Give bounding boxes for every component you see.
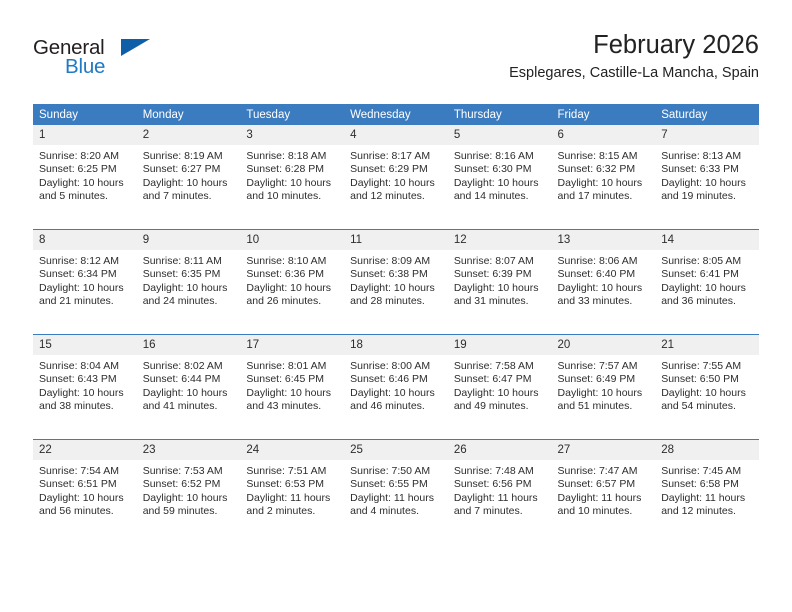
daylight-duration-line1: Daylight: 10 hours — [661, 387, 753, 400]
sunset-time: Sunset: 6:36 PM — [246, 268, 338, 281]
day-details: Sunrise: 8:10 AMSunset: 6:36 PMDaylight:… — [240, 250, 344, 309]
calendar-day-cell[interactable]: 27Sunrise: 7:47 AMSunset: 6:57 PMDayligh… — [552, 440, 656, 545]
calendar-day-cell[interactable]: 15Sunrise: 8:04 AMSunset: 6:43 PMDayligh… — [33, 335, 137, 440]
day-details: Sunrise: 8:04 AMSunset: 6:43 PMDaylight:… — [33, 355, 137, 414]
daylight-duration-line1: Daylight: 10 hours — [454, 282, 546, 295]
day-details: Sunrise: 7:50 AMSunset: 6:55 PMDaylight:… — [344, 460, 448, 519]
sunset-time: Sunset: 6:53 PM — [246, 478, 338, 491]
daylight-duration-line2: and 36 minutes. — [661, 295, 753, 308]
daylight-duration-line1: Daylight: 10 hours — [143, 492, 235, 505]
sunset-time: Sunset: 6:29 PM — [350, 163, 442, 176]
calendar-day-cell[interactable]: 8Sunrise: 8:12 AMSunset: 6:34 PMDaylight… — [33, 230, 137, 335]
daylight-duration-line2: and 24 minutes. — [143, 295, 235, 308]
sunrise-time: Sunrise: 8:09 AM — [350, 255, 442, 268]
daylight-duration-line2: and 43 minutes. — [246, 400, 338, 413]
day-number: 19 — [448, 335, 552, 355]
daylight-duration-line2: and 7 minutes. — [143, 190, 235, 203]
daylight-duration-line1: Daylight: 10 hours — [558, 177, 650, 190]
daylight-duration-line2: and 14 minutes. — [454, 190, 546, 203]
daylight-duration-line1: Daylight: 10 hours — [558, 387, 650, 400]
day-details: Sunrise: 8:12 AMSunset: 6:34 PMDaylight:… — [33, 250, 137, 309]
daylight-duration-line2: and 59 minutes. — [143, 505, 235, 518]
sunset-time: Sunset: 6:40 PM — [558, 268, 650, 281]
calendar-day-cell[interactable]: 13Sunrise: 8:06 AMSunset: 6:40 PMDayligh… — [552, 230, 656, 335]
day-number: 15 — [33, 335, 137, 355]
sunrise-time: Sunrise: 8:05 AM — [661, 255, 753, 268]
sunrise-time: Sunrise: 8:00 AM — [350, 360, 442, 373]
calendar-day-cell[interactable]: 24Sunrise: 7:51 AMSunset: 6:53 PMDayligh… — [240, 440, 344, 545]
daylight-duration-line2: and 51 minutes. — [558, 400, 650, 413]
sunrise-time: Sunrise: 7:54 AM — [39, 465, 131, 478]
daylight-duration-line1: Daylight: 11 hours — [454, 492, 546, 505]
calendar-day-cell[interactable]: 20Sunrise: 7:57 AMSunset: 6:49 PMDayligh… — [552, 335, 656, 440]
daylight-duration-line2: and 10 minutes. — [558, 505, 650, 518]
calendar-day-cell[interactable]: 1Sunrise: 8:20 AMSunset: 6:25 PMDaylight… — [33, 125, 137, 230]
day-details: Sunrise: 8:13 AMSunset: 6:33 PMDaylight:… — [655, 145, 759, 204]
day-number: 8 — [33, 230, 137, 250]
sunset-time: Sunset: 6:43 PM — [39, 373, 131, 386]
daylight-duration-line2: and 4 minutes. — [350, 505, 442, 518]
day-details: Sunrise: 7:45 AMSunset: 6:58 PMDaylight:… — [655, 460, 759, 519]
day-number: 27 — [552, 440, 656, 460]
sunrise-time: Sunrise: 8:17 AM — [350, 150, 442, 163]
sunset-time: Sunset: 6:32 PM — [558, 163, 650, 176]
day-number: 18 — [344, 335, 448, 355]
calendar-day-cell[interactable]: 16Sunrise: 8:02 AMSunset: 6:44 PMDayligh… — [137, 335, 241, 440]
sunset-time: Sunset: 6:58 PM — [661, 478, 753, 491]
daylight-duration-line1: Daylight: 10 hours — [143, 282, 235, 295]
daylight-duration-line1: Daylight: 10 hours — [350, 177, 442, 190]
page-header: General Blue February 2026 Esplegares, C… — [33, 30, 759, 98]
sunset-time: Sunset: 6:44 PM — [143, 373, 235, 386]
day-details: Sunrise: 8:16 AMSunset: 6:30 PMDaylight:… — [448, 145, 552, 204]
page-subtitle: Esplegares, Castille-La Mancha, Spain — [279, 63, 759, 83]
day-details: Sunrise: 7:47 AMSunset: 6:57 PMDaylight:… — [552, 460, 656, 519]
day-details: Sunrise: 7:58 AMSunset: 6:47 PMDaylight:… — [448, 355, 552, 414]
day-number: 6 — [552, 125, 656, 145]
day-number: 4 — [344, 125, 448, 145]
calendar-day-cell[interactable]: 19Sunrise: 7:58 AMSunset: 6:47 PMDayligh… — [448, 335, 552, 440]
sunrise-time: Sunrise: 7:58 AM — [454, 360, 546, 373]
sunrise-time: Sunrise: 7:53 AM — [143, 465, 235, 478]
daylight-duration-line2: and 41 minutes. — [143, 400, 235, 413]
daylight-duration-line2: and 54 minutes. — [661, 400, 753, 413]
day-number: 3 — [240, 125, 344, 145]
day-number: 5 — [448, 125, 552, 145]
sunrise-time: Sunrise: 8:01 AM — [246, 360, 338, 373]
sunrise-time: Sunrise: 8:07 AM — [454, 255, 546, 268]
sunset-time: Sunset: 6:38 PM — [350, 268, 442, 281]
sunrise-time: Sunrise: 8:10 AM — [246, 255, 338, 268]
daylight-duration-line1: Daylight: 10 hours — [39, 492, 131, 505]
sunrise-time: Sunrise: 8:13 AM — [661, 150, 753, 163]
daylight-duration-line2: and 56 minutes. — [39, 505, 131, 518]
daylight-duration-line1: Daylight: 10 hours — [454, 177, 546, 190]
sunrise-time: Sunrise: 8:18 AM — [246, 150, 338, 163]
sunrise-time: Sunrise: 7:57 AM — [558, 360, 650, 373]
daylight-duration-line1: Daylight: 10 hours — [350, 282, 442, 295]
calendar-day-cell[interactable]: 4Sunrise: 8:17 AMSunset: 6:29 PMDaylight… — [344, 125, 448, 230]
day-number: 17 — [240, 335, 344, 355]
day-details: Sunrise: 8:05 AMSunset: 6:41 PMDaylight:… — [655, 250, 759, 309]
daylight-duration-line1: Daylight: 10 hours — [39, 387, 131, 400]
brand-logo[interactable]: General Blue — [33, 36, 263, 92]
weekday-header-saturday: Saturday — [655, 104, 759, 125]
daylight-duration-line2: and 12 minutes. — [350, 190, 442, 203]
day-number: 1 — [33, 125, 137, 145]
calendar-day-cell[interactable]: 18Sunrise: 8:00 AMSunset: 6:46 PMDayligh… — [344, 335, 448, 440]
day-details: Sunrise: 8:19 AMSunset: 6:27 PMDaylight:… — [137, 145, 241, 204]
calendar-day-cell[interactable]: 21Sunrise: 7:55 AMSunset: 6:50 PMDayligh… — [655, 335, 759, 440]
daylight-duration-line2: and 10 minutes. — [246, 190, 338, 203]
daylight-duration-line1: Daylight: 10 hours — [661, 282, 753, 295]
calendar-page: General Blue February 2026 Esplegares, C… — [0, 0, 792, 612]
calendar-day-cell[interactable]: 28Sunrise: 7:45 AMSunset: 6:58 PMDayligh… — [655, 440, 759, 545]
daylight-duration-line1: Daylight: 10 hours — [246, 282, 338, 295]
weekday-header-monday: Monday — [137, 104, 241, 125]
sunset-time: Sunset: 6:57 PM — [558, 478, 650, 491]
sunset-time: Sunset: 6:30 PM — [454, 163, 546, 176]
sunset-time: Sunset: 6:55 PM — [350, 478, 442, 491]
sunset-time: Sunset: 6:33 PM — [661, 163, 753, 176]
calendar-day-cell[interactable]: 5Sunrise: 8:16 AMSunset: 6:30 PMDaylight… — [448, 125, 552, 230]
day-number: 11 — [344, 230, 448, 250]
daylight-duration-line2: and 31 minutes. — [454, 295, 546, 308]
daylight-duration-line1: Daylight: 10 hours — [143, 177, 235, 190]
day-number: 28 — [655, 440, 759, 460]
weekday-header-wednesday: Wednesday — [344, 104, 448, 125]
sunset-time: Sunset: 6:41 PM — [661, 268, 753, 281]
day-number: 23 — [137, 440, 241, 460]
weekday-header-friday: Friday — [552, 104, 656, 125]
sunset-time: Sunset: 6:49 PM — [558, 373, 650, 386]
calendar-header-row: Sunday Monday Tuesday Wednesday Thursday… — [33, 104, 759, 125]
page-title: February 2026 — [279, 30, 759, 60]
calendar-day-cell[interactable]: 25Sunrise: 7:50 AMSunset: 6:55 PMDayligh… — [344, 440, 448, 545]
sunset-time: Sunset: 6:46 PM — [350, 373, 442, 386]
calendar-week-row: 22Sunrise: 7:54 AMSunset: 6:51 PMDayligh… — [33, 440, 759, 545]
weekday-header-tuesday: Tuesday — [240, 104, 344, 125]
daylight-duration-line2: and 5 minutes. — [39, 190, 131, 203]
sunrise-time: Sunrise: 7:51 AM — [246, 465, 338, 478]
daylight-duration-line2: and 7 minutes. — [454, 505, 546, 518]
day-number: 16 — [137, 335, 241, 355]
logo-secondary-text: Blue — [65, 55, 105, 79]
sunrise-time: Sunrise: 8:15 AM — [558, 150, 650, 163]
title-block: February 2026 Esplegares, Castille-La Ma… — [279, 30, 759, 83]
calendar-day-cell[interactable]: 3Sunrise: 8:18 AMSunset: 6:28 PMDaylight… — [240, 125, 344, 230]
sunrise-time: Sunrise: 8:20 AM — [39, 150, 131, 163]
daylight-duration-line1: Daylight: 10 hours — [350, 387, 442, 400]
day-number: 2 — [137, 125, 241, 145]
day-number: 24 — [240, 440, 344, 460]
sunrise-time: Sunrise: 8:12 AM — [39, 255, 131, 268]
day-details: Sunrise: 8:01 AMSunset: 6:45 PMDaylight:… — [240, 355, 344, 414]
daylight-duration-line2: and 12 minutes. — [661, 505, 753, 518]
sunset-time: Sunset: 6:52 PM — [143, 478, 235, 491]
daylight-duration-line2: and 38 minutes. — [39, 400, 131, 413]
daylight-duration-line1: Daylight: 10 hours — [246, 177, 338, 190]
calendar-week-row: 1Sunrise: 8:20 AMSunset: 6:25 PMDaylight… — [33, 125, 759, 230]
daylight-duration-line1: Daylight: 10 hours — [558, 282, 650, 295]
weekday-header-sunday: Sunday — [33, 104, 137, 125]
daylight-duration-line1: Daylight: 10 hours — [39, 282, 131, 295]
sunset-time: Sunset: 6:50 PM — [661, 373, 753, 386]
daylight-duration-line2: and 28 minutes. — [350, 295, 442, 308]
day-number: 21 — [655, 335, 759, 355]
sunset-time: Sunset: 6:28 PM — [246, 163, 338, 176]
day-number: 26 — [448, 440, 552, 460]
sunrise-time: Sunrise: 7:55 AM — [661, 360, 753, 373]
day-number: 14 — [655, 230, 759, 250]
daylight-duration-line2: and 46 minutes. — [350, 400, 442, 413]
calendar-day-cell[interactable]: 2Sunrise: 8:19 AMSunset: 6:27 PMDaylight… — [137, 125, 241, 230]
daylight-duration-line2: and 49 minutes. — [454, 400, 546, 413]
daylight-duration-line1: Daylight: 11 hours — [661, 492, 753, 505]
daylight-duration-line2: and 33 minutes. — [558, 295, 650, 308]
calendar-day-cell[interactable]: 10Sunrise: 8:10 AMSunset: 6:36 PMDayligh… — [240, 230, 344, 335]
daylight-duration-line1: Daylight: 10 hours — [454, 387, 546, 400]
day-details: Sunrise: 7:57 AMSunset: 6:49 PMDaylight:… — [552, 355, 656, 414]
daylight-duration-line1: Daylight: 11 hours — [558, 492, 650, 505]
daylight-duration-line2: and 2 minutes. — [246, 505, 338, 518]
calendar-week-row: 8Sunrise: 8:12 AMSunset: 6:34 PMDaylight… — [33, 230, 759, 335]
sunset-time: Sunset: 6:34 PM — [39, 268, 131, 281]
calendar-day-cell[interactable]: 23Sunrise: 7:53 AMSunset: 6:52 PMDayligh… — [137, 440, 241, 545]
sunset-time: Sunset: 6:27 PM — [143, 163, 235, 176]
daylight-duration-line1: Daylight: 10 hours — [143, 387, 235, 400]
day-number: 9 — [137, 230, 241, 250]
day-details: Sunrise: 8:11 AMSunset: 6:35 PMDaylight:… — [137, 250, 241, 309]
daylight-duration-line1: Daylight: 10 hours — [246, 387, 338, 400]
sunrise-time: Sunrise: 8:11 AM — [143, 255, 235, 268]
day-details: Sunrise: 8:00 AMSunset: 6:46 PMDaylight:… — [344, 355, 448, 414]
sunrise-time: Sunrise: 7:48 AM — [454, 465, 546, 478]
daylight-duration-line2: and 17 minutes. — [558, 190, 650, 203]
sunset-time: Sunset: 6:35 PM — [143, 268, 235, 281]
daylight-duration-line2: and 19 minutes. — [661, 190, 753, 203]
sunrise-time: Sunrise: 8:06 AM — [558, 255, 650, 268]
day-number: 7 — [655, 125, 759, 145]
daylight-duration-line1: Daylight: 11 hours — [246, 492, 338, 505]
sunrise-time: Sunrise: 8:04 AM — [39, 360, 131, 373]
day-number: 10 — [240, 230, 344, 250]
calendar-day-cell[interactable]: 26Sunrise: 7:48 AMSunset: 6:56 PMDayligh… — [448, 440, 552, 545]
day-number: 22 — [33, 440, 137, 460]
sunrise-time: Sunrise: 7:47 AM — [558, 465, 650, 478]
sunrise-time: Sunrise: 8:16 AM — [454, 150, 546, 163]
day-details: Sunrise: 8:06 AMSunset: 6:40 PMDaylight:… — [552, 250, 656, 309]
day-number: 12 — [448, 230, 552, 250]
calendar-day-cell[interactable]: 6Sunrise: 8:15 AMSunset: 6:32 PMDaylight… — [552, 125, 656, 230]
day-number: 13 — [552, 230, 656, 250]
triangle-icon — [121, 39, 150, 56]
day-details: Sunrise: 7:51 AMSunset: 6:53 PMDaylight:… — [240, 460, 344, 519]
day-details: Sunrise: 7:55 AMSunset: 6:50 PMDaylight:… — [655, 355, 759, 414]
calendar-day-cell[interactable]: 14Sunrise: 8:05 AMSunset: 6:41 PMDayligh… — [655, 230, 759, 335]
calendar-day-cell[interactable]: 7Sunrise: 8:13 AMSunset: 6:33 PMDaylight… — [655, 125, 759, 230]
day-details: Sunrise: 7:53 AMSunset: 6:52 PMDaylight:… — [137, 460, 241, 519]
daylight-duration-line2: and 21 minutes. — [39, 295, 131, 308]
day-details: Sunrise: 8:18 AMSunset: 6:28 PMDaylight:… — [240, 145, 344, 204]
daylight-duration-line1: Daylight: 10 hours — [661, 177, 753, 190]
daylight-duration-line2: and 26 minutes. — [246, 295, 338, 308]
day-details: Sunrise: 7:54 AMSunset: 6:51 PMDaylight:… — [33, 460, 137, 519]
sunrise-time: Sunrise: 8:02 AM — [143, 360, 235, 373]
sunset-time: Sunset: 6:25 PM — [39, 163, 131, 176]
calendar-day-cell[interactable]: 12Sunrise: 8:07 AMSunset: 6:39 PMDayligh… — [448, 230, 552, 335]
day-details: Sunrise: 8:15 AMSunset: 6:32 PMDaylight:… — [552, 145, 656, 204]
day-details: Sunrise: 8:20 AMSunset: 6:25 PMDaylight:… — [33, 145, 137, 204]
sunset-time: Sunset: 6:47 PM — [454, 373, 546, 386]
calendar-day-cell[interactable]: 17Sunrise: 8:01 AMSunset: 6:45 PMDayligh… — [240, 335, 344, 440]
sunrise-time: Sunrise: 8:19 AM — [143, 150, 235, 163]
daylight-duration-line1: Daylight: 10 hours — [39, 177, 131, 190]
sunset-time: Sunset: 6:51 PM — [39, 478, 131, 491]
day-details: Sunrise: 8:09 AMSunset: 6:38 PMDaylight:… — [344, 250, 448, 309]
day-details: Sunrise: 8:07 AMSunset: 6:39 PMDaylight:… — [448, 250, 552, 309]
day-details: Sunrise: 7:48 AMSunset: 6:56 PMDaylight:… — [448, 460, 552, 519]
day-number: 20 — [552, 335, 656, 355]
calendar-day-cell[interactable]: 11Sunrise: 8:09 AMSunset: 6:38 PMDayligh… — [344, 230, 448, 335]
calendar-body: 1Sunrise: 8:20 AMSunset: 6:25 PMDaylight… — [33, 125, 759, 544]
day-number: 25 — [344, 440, 448, 460]
sunset-time: Sunset: 6:39 PM — [454, 268, 546, 281]
sunrise-time: Sunrise: 7:45 AM — [661, 465, 753, 478]
sunset-time: Sunset: 6:45 PM — [246, 373, 338, 386]
sunset-time: Sunset: 6:56 PM — [454, 478, 546, 491]
calendar-day-cell[interactable]: 22Sunrise: 7:54 AMSunset: 6:51 PMDayligh… — [33, 440, 137, 545]
daylight-duration-line1: Daylight: 11 hours — [350, 492, 442, 505]
day-details: Sunrise: 8:02 AMSunset: 6:44 PMDaylight:… — [137, 355, 241, 414]
calendar-day-cell[interactable]: 9Sunrise: 8:11 AMSunset: 6:35 PMDaylight… — [137, 230, 241, 335]
sunrise-time: Sunrise: 7:50 AM — [350, 465, 442, 478]
day-details: Sunrise: 8:17 AMSunset: 6:29 PMDaylight:… — [344, 145, 448, 204]
weekday-header-thursday: Thursday — [448, 104, 552, 125]
calendar-table: Sunday Monday Tuesday Wednesday Thursday… — [33, 104, 759, 544]
calendar-week-row: 15Sunrise: 8:04 AMSunset: 6:43 PMDayligh… — [33, 335, 759, 440]
